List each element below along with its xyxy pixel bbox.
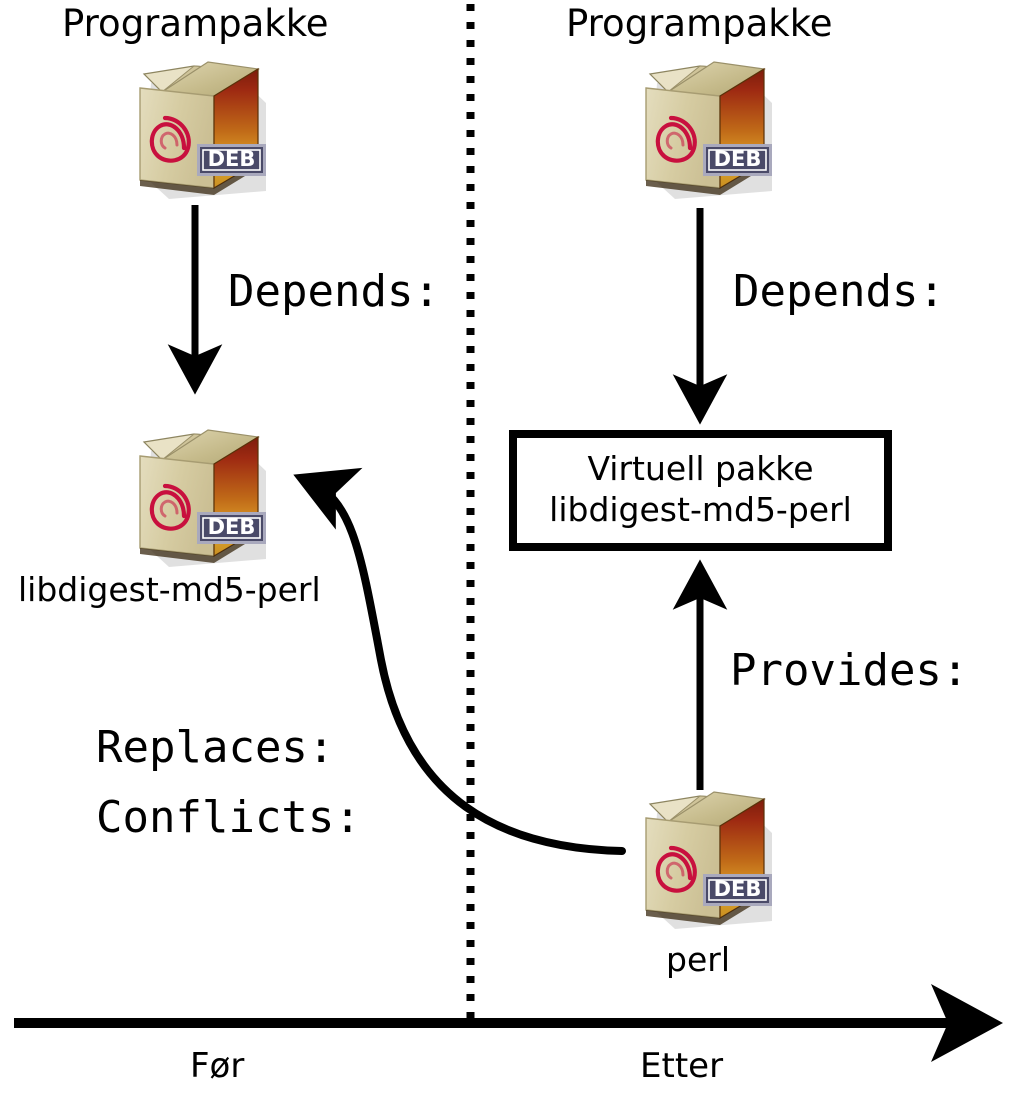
package-label-perl: perl <box>666 940 730 979</box>
axis-label-before: Før <box>190 1046 244 1086</box>
title-before: Programpakke <box>62 2 329 45</box>
depends-label-after: Depends: <box>733 266 945 317</box>
axis-label-after: Etter <box>640 1046 723 1086</box>
virtual-box-line-1: Virtuell pakke <box>513 448 888 489</box>
virtual-box-line-2: libdigest-md5-perl <box>513 489 888 530</box>
package-icon-before-bottom: DEB <box>118 420 274 572</box>
provides-label: Provides: <box>730 645 968 696</box>
svg-text:DEB: DEB <box>208 515 256 539</box>
depends-label-before: Depends: <box>228 266 440 317</box>
deb-badge: DEB <box>197 144 266 176</box>
svg-text:DEB: DEB <box>208 147 256 171</box>
conflicts-label: Conflicts: <box>96 792 361 843</box>
deb-badge: DEB <box>703 874 772 906</box>
svg-text:DEB: DEB <box>714 147 762 171</box>
deb-badge: DEB <box>197 512 266 544</box>
package-icon-after-top: DEB <box>624 52 780 204</box>
package-icon-after-bottom: DEB <box>624 782 780 934</box>
replaces-label: Replaces: <box>96 722 334 773</box>
svg-text:DEB: DEB <box>714 877 762 901</box>
diagram-canvas: DEB DEB <box>0 0 1024 1094</box>
deb-badge: DEB <box>703 144 772 176</box>
title-after: Programpakke <box>566 2 833 45</box>
package-icon-before-top: DEB <box>118 52 274 204</box>
package-label-libdigest-md5-perl: libdigest-md5-perl <box>18 570 321 609</box>
virtual-package-box-text: Virtuell pakke libdigest-md5-perl <box>513 448 888 530</box>
